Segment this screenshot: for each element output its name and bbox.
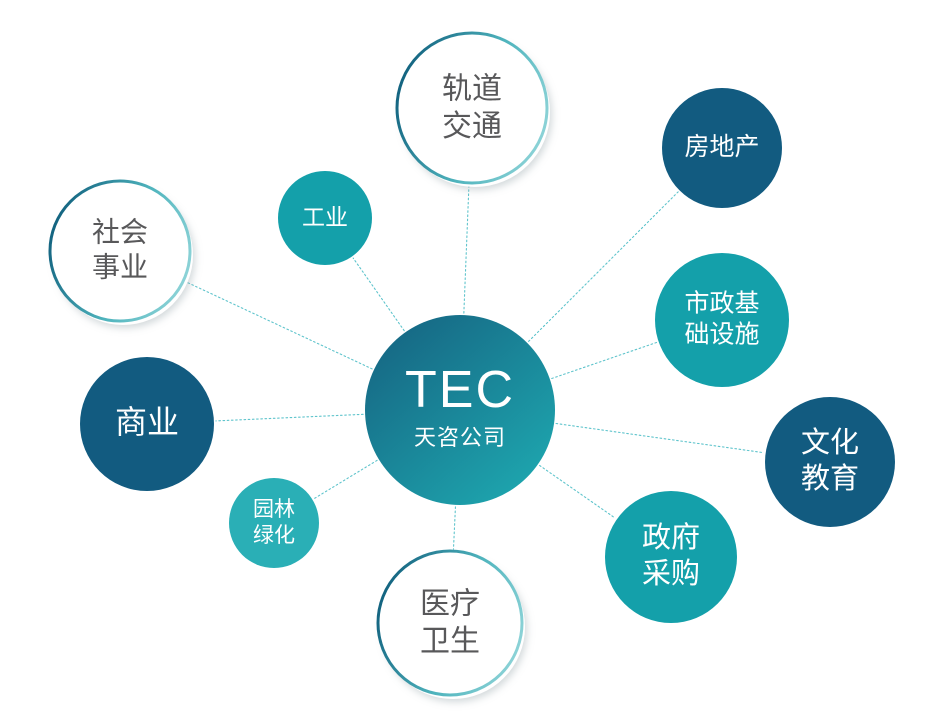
sector-node-rail-transit[interactable]: 轨道交通	[397, 33, 550, 187]
sector-node-commerce[interactable]: 商业	[80, 357, 214, 491]
business-sectors-hub-diagram: 轨道交通房地产市政基础设施文化教育政府采购医疗卫生园林绿化商业社会事业工业 TE…	[0, 0, 940, 720]
connector-commerce	[216, 414, 363, 421]
connector-social-services	[185, 282, 372, 369]
connector-medical-health	[453, 507, 455, 549]
connector-industry	[353, 258, 404, 331]
node-label-commerce: 商业	[115, 403, 179, 441]
center-hub-tec-hub[interactable]: TEC天咨公司	[365, 315, 555, 505]
connector-government-procurement	[540, 465, 616, 518]
center-hub-group: TEC天咨公司	[365, 315, 555, 505]
sector-node-medical-health[interactable]: 医疗卫生	[378, 551, 525, 699]
sector-node-government-procurement[interactable]: 政府采购	[605, 491, 737, 623]
diagram-canvas: 轨道交通房地产市政基础设施文化教育政府采购医疗卫生园林绿化商业社会事业工业 TE…	[0, 0, 940, 720]
sector-node-culture-education[interactable]: 文化教育	[765, 397, 895, 527]
connector-landscape-greening	[314, 460, 377, 498]
sector-node-landscape-greening[interactable]: 园林绿化	[229, 478, 319, 568]
sector-node-social-services[interactable]: 社会事业	[50, 181, 193, 325]
center-hub-latin-label: TEC	[405, 361, 515, 419]
connector-municipal-infrastructure	[552, 342, 657, 378]
connector-culture-education	[556, 423, 764, 452]
sector-node-municipal-infrastructure[interactable]: 市政基础设施	[655, 253, 789, 387]
center-hub-chinese-label: 天咨公司	[414, 426, 506, 451]
node-label-real-estate: 房地产	[684, 132, 759, 161]
node-label-industry: 工业	[302, 205, 348, 231]
connector-rail-transit	[464, 185, 469, 313]
sector-node-industry[interactable]: 工业	[278, 171, 372, 265]
sector-node-real-estate[interactable]: 房地产	[662, 88, 782, 208]
